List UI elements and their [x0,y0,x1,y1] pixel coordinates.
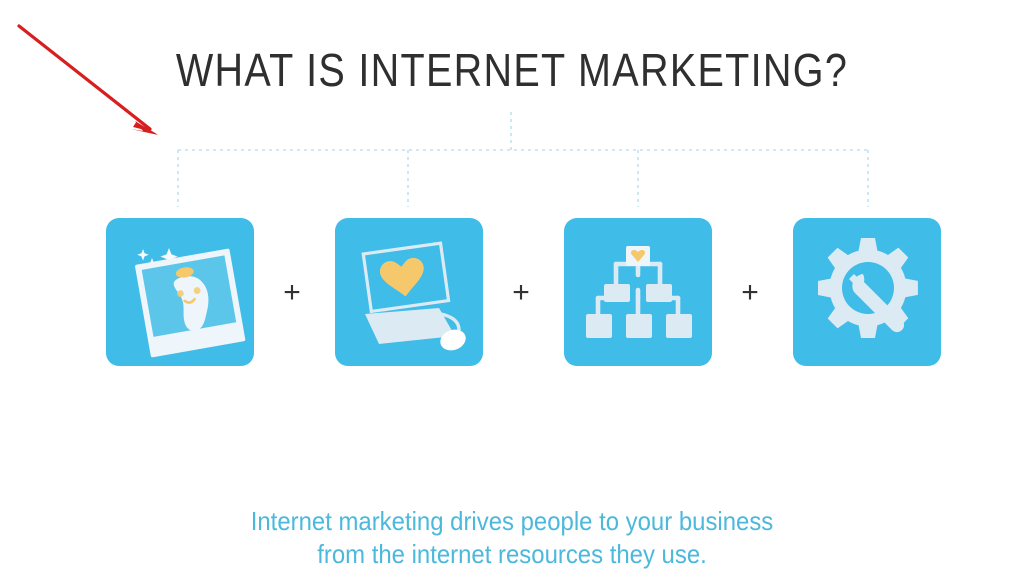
cards-row: + SOCIAL MEDIA + BLOGGING [0,218,1024,368]
plus-separator-2: + [506,278,536,308]
sitemap-tree-icon [564,218,712,366]
caption-text: Internet marketing drives people to your… [41,505,983,571]
card-content-marketing[interactable] [564,218,712,366]
gear-wrench-icon [793,218,941,366]
card-seo[interactable] [793,218,941,366]
card-social-media[interactable] [106,218,254,366]
plus-separator-1: + [277,278,307,308]
slide-canvas: WHAT IS INTERNET MARKETING? [0,0,1024,575]
laptop-heart-mouse-icon [335,218,483,366]
page-title: WHAT IS INTERNET MARKETING? [72,42,953,98]
card-blogging[interactable] [335,218,483,366]
polaroid-photo-icon [106,218,254,366]
plus-separator-3: + [735,278,765,308]
